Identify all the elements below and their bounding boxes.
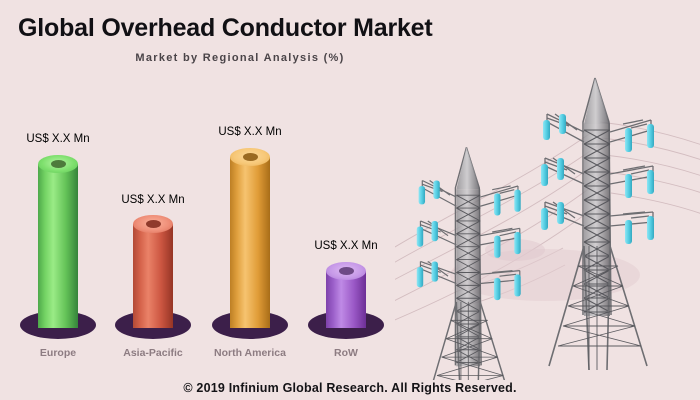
cylinder-hole bbox=[51, 160, 66, 168]
bar-cylinder-asia-pacific[interactable] bbox=[133, 215, 173, 328]
value-label-north-america: US$ X.X Mn bbox=[210, 126, 290, 138]
category-label-north-america: North America bbox=[210, 347, 290, 359]
value-label-europe: US$ X.X Mn bbox=[18, 133, 98, 145]
transmission-towers-illustration bbox=[395, 60, 700, 380]
bar-group-north-america[interactable]: US$ X.X Mn North America bbox=[210, 0, 290, 400]
bar-chart: US$ X.X Mn Europe US$ X.X Mn Asia-Pacifi… bbox=[0, 0, 420, 400]
cylinder-hole bbox=[146, 220, 161, 228]
cylinder-body bbox=[38, 164, 78, 328]
bar-group-europe[interactable]: US$ X.X Mn Europe bbox=[18, 0, 98, 400]
bar-cylinder-north-america[interactable] bbox=[230, 148, 270, 328]
bar-cylinder-europe[interactable] bbox=[38, 155, 78, 328]
cylinder-hole bbox=[339, 267, 354, 275]
copyright-footer: © 2019 Infinium Global Research. All Rig… bbox=[0, 381, 700, 395]
category-label-europe: Europe bbox=[18, 347, 98, 359]
cylinder-body bbox=[133, 224, 173, 328]
bar-group-row[interactable]: US$ X.X Mn RoW bbox=[306, 0, 386, 400]
cylinder-body bbox=[230, 157, 270, 328]
category-label-asia-pacific: Asia-Pacific bbox=[113, 347, 193, 359]
bar-cylinder-row[interactable] bbox=[326, 262, 366, 328]
value-label-row: US$ X.X Mn bbox=[306, 240, 386, 252]
infographic-canvas: Global Overhead Conductor Market Market … bbox=[0, 0, 700, 400]
category-label-row: RoW bbox=[306, 347, 386, 359]
value-label-asia-pacific: US$ X.X Mn bbox=[113, 194, 193, 206]
bar-group-asia-pacific[interactable]: US$ X.X Mn Asia-Pacific bbox=[113, 0, 193, 400]
cylinder-hole bbox=[243, 153, 258, 161]
transmission-tower-right bbox=[541, 78, 654, 370]
